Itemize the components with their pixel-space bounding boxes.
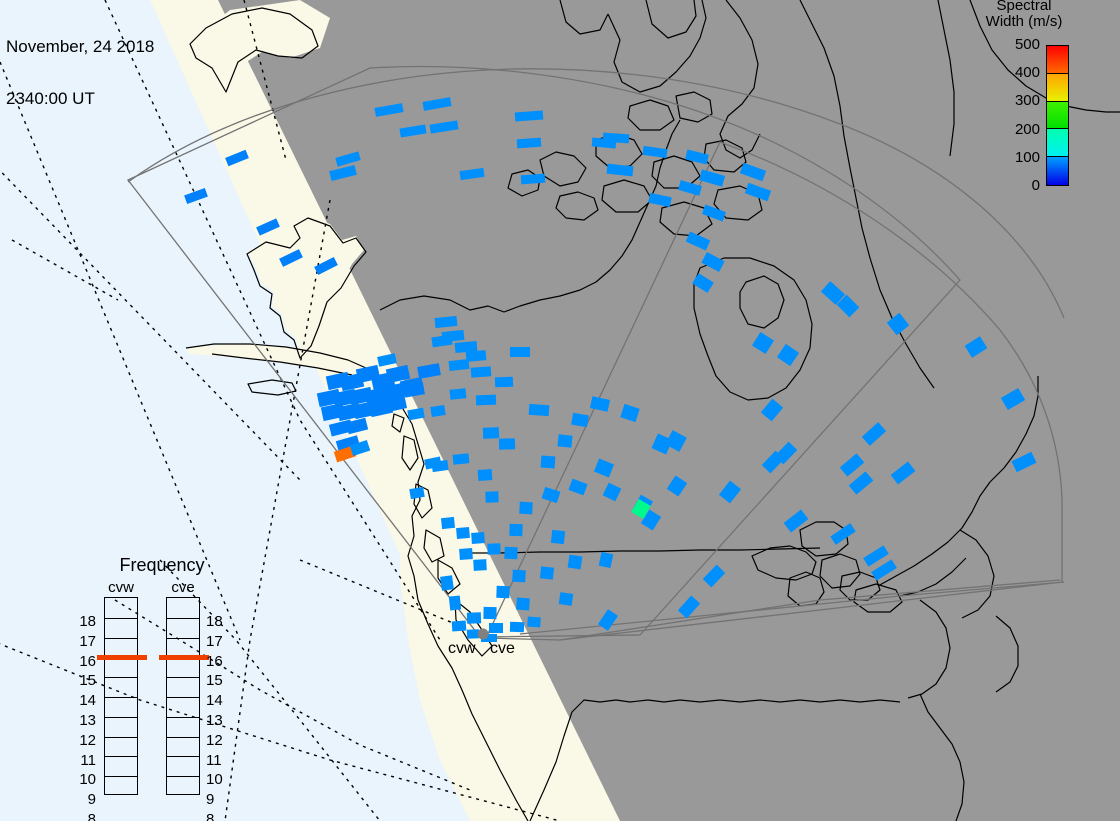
frequency-gridline (105, 737, 137, 738)
radar-echo-cell (512, 570, 526, 583)
radar-echo-cell (540, 566, 554, 579)
site-label-cve: cve (490, 640, 515, 658)
frequency-legend: Frequency cvw 18171615141312111098 cve 1… (82, 556, 242, 791)
radar-site-marker (478, 629, 489, 640)
radar-echo-cell (441, 517, 455, 529)
timestamp-time: 2340:00 UT (6, 90, 154, 108)
radar-echo-cell (499, 438, 515, 450)
frequency-tick-cvw-8: 8 (72, 812, 96, 821)
frequency-tick-cve-12: 12 (206, 733, 230, 748)
colorbar-tick-200: 200 (980, 122, 1040, 137)
frequency-tick-cve-14: 14 (206, 693, 230, 708)
frequency-gridline (105, 717, 137, 718)
frequency-tick-cvw-17: 17 (72, 634, 96, 649)
radar-echo-cell (559, 592, 574, 606)
frequency-column-cve-label: cve (166, 580, 200, 596)
radar-echo-cell (557, 434, 572, 447)
radar-echo-cell (510, 347, 530, 357)
radar-echo-cell (473, 559, 487, 571)
radar-echo-cell (541, 456, 556, 469)
colorbar-title: Spectral Width (m/s) (964, 0, 1084, 29)
radar-echo-cell (478, 469, 493, 481)
frequency-tick-cvw-14: 14 (72, 693, 96, 708)
timestamp-date: November, 24 2018 (6, 38, 154, 56)
colorbar-tick-400: 400 (980, 65, 1040, 80)
frequency-tick-cve-17: 17 (206, 634, 230, 649)
frequency-tick-cve-8: 8 (206, 812, 230, 821)
radar-echo-cell (517, 138, 542, 149)
frequency-tick-cve-18: 18 (206, 614, 230, 629)
frequency-gridline (105, 756, 137, 757)
radar-echo-cell (529, 404, 550, 416)
radar-echo-cell (519, 502, 533, 515)
radar-echo-cell (496, 586, 509, 598)
radar-echo-cell (449, 359, 470, 371)
colorbar-title-line2: Width (m/s) (964, 14, 1084, 30)
frequency-gridline (167, 717, 199, 718)
radar-echo-cell (527, 617, 541, 628)
timestamp-overlay: November, 24 2018 2340:00 UT (6, 4, 154, 141)
frequency-column-cve: cve 18171615141312111098 (166, 580, 200, 795)
frequency-gridline (105, 618, 137, 619)
colorbar-gradient (1046, 45, 1069, 186)
radar-echo-cell (489, 623, 503, 633)
frequency-tick-cve-9: 9 (206, 792, 230, 807)
frequency-gridline (105, 638, 137, 639)
frequency-tick-cvw-18: 18 (72, 614, 96, 629)
frequency-tick-cvw-13: 13 (72, 713, 96, 728)
frequency-tick-cve-15: 15 (206, 673, 230, 688)
frequency-column-cvw-label: cvw (104, 580, 138, 596)
frequency-gridline (167, 697, 199, 698)
radar-echo-cell (568, 555, 583, 570)
frequency-tick-cvw-12: 12 (72, 733, 96, 748)
radar-echo-cell (440, 575, 454, 591)
radar-map-figure: November, 24 2018 2340:00 UT Spectral Wi… (0, 0, 1120, 821)
frequency-gridline (167, 618, 199, 619)
radar-echo-cell (485, 491, 498, 502)
frequency-tick-cve-11: 11 (206, 753, 230, 768)
radar-echo-cell (495, 377, 513, 388)
radar-echo-cell (551, 530, 565, 544)
colorbar-segment-0 (1047, 46, 1068, 74)
radar-echo-cell (504, 547, 517, 559)
frequency-gridline (167, 677, 199, 678)
radar-echo-cell (452, 621, 467, 632)
frequency-gridline (105, 697, 137, 698)
frequency-tick-cvw-10: 10 (72, 772, 96, 787)
frequency-gridline (167, 638, 199, 639)
radar-echo-cell (456, 527, 470, 539)
colorbar-legend: Spectral Width (m/s) 5004003002001000 (970, 0, 1120, 200)
radar-echo-cell (516, 598, 530, 611)
colorbar-segment-4 (1047, 157, 1068, 185)
radar-echo-cell (453, 453, 470, 465)
radar-echo-cell (521, 174, 546, 185)
frequency-gridline (167, 737, 199, 738)
colorbar-tick-500: 500 (980, 37, 1040, 52)
radar-echo-cell (483, 427, 500, 439)
frequency-tick-cvw-11: 11 (72, 753, 96, 768)
colorbar-segment-3 (1047, 129, 1068, 157)
frequency-tick-cvw-16: 16 (72, 654, 96, 669)
frequency-gridline (167, 776, 199, 777)
colorbar-tick-300: 300 (980, 93, 1040, 108)
frequency-marker-cve (159, 655, 209, 660)
colorbar-tick-100: 100 (980, 150, 1040, 165)
radar-echo-cell (483, 607, 496, 619)
frequency-tick-cve-13: 13 (206, 713, 230, 728)
colorbar-segment-1 (1047, 74, 1068, 102)
frequency-gridline (167, 756, 199, 757)
radar-echo-cell (450, 388, 467, 400)
site-label-cvw: cvw (448, 640, 476, 658)
colorbar-segment-2 (1047, 102, 1068, 130)
radar-echo-cell (510, 622, 524, 632)
radar-echo-cell (471, 366, 492, 377)
frequency-legend-title: Frequency (82, 556, 242, 575)
radar-echo-cell (449, 595, 461, 610)
radar-echo-cell (476, 395, 496, 406)
radar-echo-cell (455, 341, 478, 353)
frequency-tick-cve-10: 10 (206, 772, 230, 787)
radar-echo-cell (459, 548, 473, 560)
frequency-gridline (105, 776, 137, 777)
radar-echo-cell (467, 629, 479, 638)
colorbar-tick-0: 0 (980, 178, 1040, 193)
colorbar-title-line1: Spectral (964, 0, 1084, 14)
radar-echo-cell (487, 543, 500, 554)
frequency-bar-cve (166, 597, 200, 795)
radar-echo-cell (466, 350, 487, 362)
frequency-tick-cvw-15: 15 (72, 673, 96, 688)
frequency-tick-cvw-9: 9 (72, 792, 96, 807)
frequency-tick-cve-16: 16 (206, 654, 230, 669)
radar-echo-cell (509, 524, 522, 536)
radar-echo-cell (467, 612, 481, 623)
frequency-column-cvw: cvw 18171615141312111098 (104, 580, 138, 795)
frequency-bar-cvw (104, 597, 138, 795)
radar-echo-cell (471, 532, 485, 544)
frequency-marker-cvw (97, 655, 147, 660)
frequency-gridline (105, 677, 137, 678)
